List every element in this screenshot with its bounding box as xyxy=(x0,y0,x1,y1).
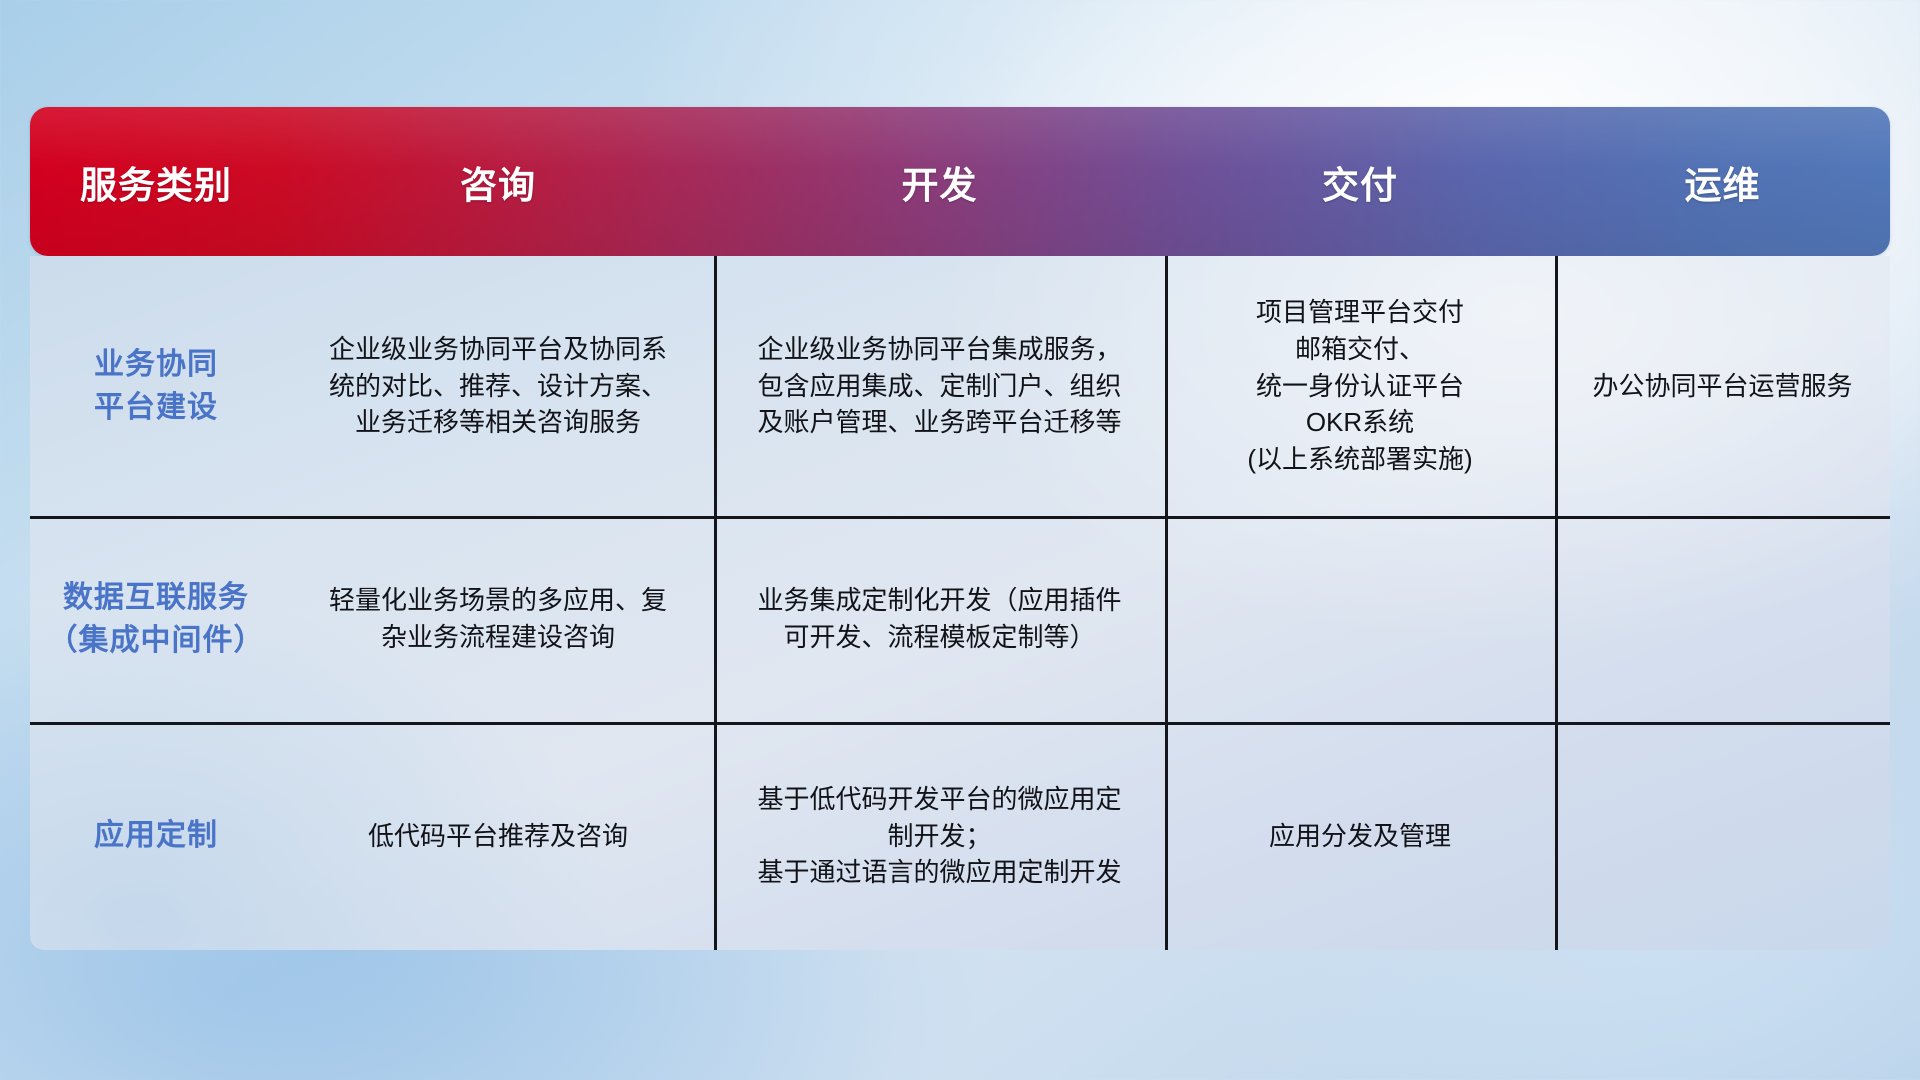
table-body: 业务协同 平台建设 企业级业务协同平台及协同系 统的对比、推荐、设计方案、 业务… xyxy=(30,256,1890,950)
column-header-consulting: 咨询 xyxy=(282,155,714,209)
cell-row3-delivery: 应用分发及管理 xyxy=(1165,818,1555,855)
service-matrix-table: 服务类别 咨询 开发 交付 运维 业务协同 平台建设 企业级业务协同平台及协同系… xyxy=(30,107,1890,950)
column-header-service-category: 服务类别 xyxy=(30,155,282,209)
table-header-row: 服务类别 咨询 开发 交付 运维 xyxy=(30,107,1890,256)
cell-row1-consulting: 企业级业务协同平台及协同系 统的对比、推荐、设计方案、 业务迁移等相关咨询服务 xyxy=(282,331,714,442)
column-header-development: 开发 xyxy=(714,155,1165,209)
cell-row3-consulting: 低代码平台推荐及咨询 xyxy=(282,818,714,855)
cell-row2-development: 业务集成定制化开发（应用插件 可开发、流程模板定制等） xyxy=(714,582,1165,656)
column-divider-2 xyxy=(1165,256,1168,950)
cell-row2-consulting: 轻量化业务场景的多应用、复 杂业务流程建设咨询 xyxy=(282,582,714,656)
column-header-operations: 运维 xyxy=(1555,155,1890,209)
column-divider-3 xyxy=(1555,256,1558,950)
row-label-data-interconnect: 数据互联服务 （集成中间件） xyxy=(30,576,282,663)
row-label-app-customization: 应用定制 xyxy=(30,814,282,858)
cell-row1-development: 企业级业务协同平台集成服务， 包含应用集成、定制门户、组织 及账户管理、业务跨平… xyxy=(714,331,1165,442)
cell-row3-development: 基于低代码开发平台的微应用定 制开发； 基于通过语言的微应用定制开发 xyxy=(714,781,1165,892)
table-row: 数据互联服务 （集成中间件） 轻量化业务场景的多应用、复 杂业务流程建设咨询 业… xyxy=(30,516,1890,722)
row-label-business-collaboration: 业务协同 平台建设 xyxy=(30,343,282,430)
row-divider-1 xyxy=(30,516,1890,519)
row-divider-2 xyxy=(30,722,1890,725)
column-header-delivery: 交付 xyxy=(1165,155,1555,209)
cell-row1-operations: 办公协同平台运营服务 xyxy=(1555,368,1890,405)
column-divider-1 xyxy=(714,256,717,950)
table-row: 应用定制 低代码平台推荐及咨询 基于低代码开发平台的微应用定 制开发； 基于通过… xyxy=(30,722,1890,950)
table-row: 业务协同 平台建设 企业级业务协同平台及协同系 统的对比、推荐、设计方案、 业务… xyxy=(30,256,1890,516)
cell-row1-delivery: 项目管理平台交付 邮箱交付、 统一身份认证平台 OKR系统 (以上系统部署实施) xyxy=(1165,294,1555,479)
